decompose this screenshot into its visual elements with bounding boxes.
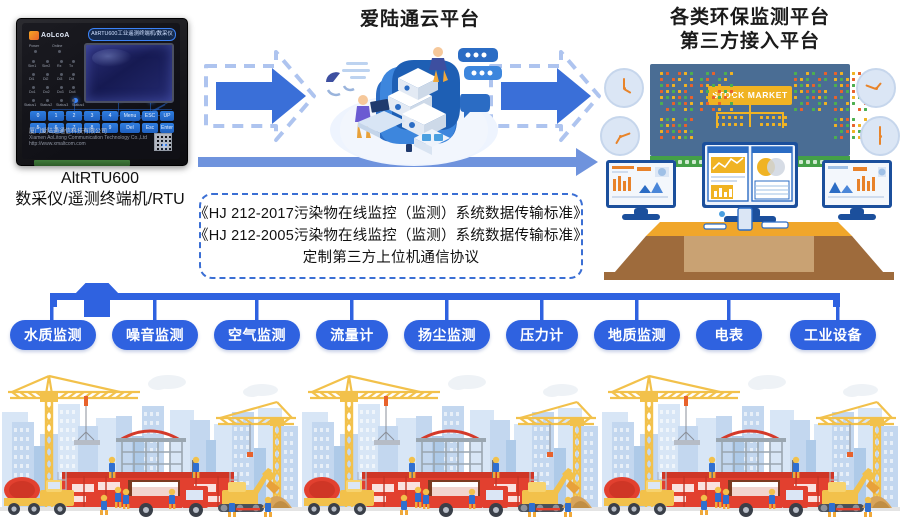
brand-mark-icon (29, 31, 39, 40)
board-dot (690, 108, 693, 111)
board-dot (730, 84, 733, 87)
control-desk (598, 206, 900, 282)
board-dot (812, 108, 815, 111)
board-dot (660, 96, 663, 99)
board-footer-dot (692, 160, 696, 164)
board-dot (846, 78, 849, 81)
board-dot (772, 123, 775, 126)
board-dot (794, 90, 797, 93)
board-dot (666, 118, 669, 121)
board-dot (730, 96, 733, 99)
board-dot (684, 90, 687, 93)
device-type-name: 数采仪/遥测终端机/RTU (0, 189, 200, 210)
board-dot (730, 72, 733, 75)
device-status-label-1: Status1 (24, 103, 36, 107)
board-dot (846, 102, 849, 105)
board-dot (700, 108, 703, 111)
board-dot (684, 136, 687, 139)
board-dot (728, 123, 731, 126)
device-caption: AltRTU600 数采仪/遥测终端机/RTU (0, 168, 200, 210)
board-dot (684, 72, 687, 75)
board-dot (806, 78, 809, 81)
board-dot (818, 84, 821, 87)
board-footer-dot (813, 160, 817, 164)
device-status-label-3: Status3 (56, 103, 68, 107)
sensor-tag-2[interactable]: 空气监测 (214, 320, 300, 350)
monitoring-platform-illustration: STOCK MARKET (598, 56, 900, 286)
board-dot (864, 108, 867, 111)
board-dot (666, 108, 669, 111)
board-dot (794, 84, 797, 87)
board-dot (806, 90, 809, 93)
device-key-2[interactable]: 2 (66, 111, 82, 121)
board-dot (858, 124, 861, 127)
board-dot (740, 116, 743, 119)
sensor-tag-3[interactable]: 流量计 (316, 320, 388, 350)
board-dot (730, 102, 733, 105)
board-dot (834, 72, 837, 75)
board-dot (660, 136, 663, 139)
sensor-tag-8[interactable]: 工业设备 (790, 320, 876, 350)
device-company-text: 厦门爱陆通通信科技有限公司 Xiamen AoLitong Communicat… (29, 129, 147, 147)
device-front-panel: AoLcoA AltRTU600工业遥测终端机/数采仪 Power Online… (22, 23, 180, 159)
right-monitor-screen (825, 163, 889, 205)
board-dot (718, 108, 721, 111)
board-dot (718, 102, 721, 105)
board-dot (660, 84, 663, 87)
board-dot (666, 96, 669, 99)
board-dot (824, 78, 827, 81)
board-dot (660, 118, 663, 121)
device-key-esc-top[interactable]: ESC (142, 111, 158, 121)
board-dot (678, 102, 681, 105)
board-dot (678, 72, 681, 75)
board-dot (834, 96, 837, 99)
flow-arrow-device-to-cloud (202, 46, 320, 146)
board-dot (852, 96, 855, 99)
board-dot (722, 116, 725, 119)
board-dot (672, 96, 675, 99)
board-dot (706, 90, 709, 93)
device-qr-code-icon (154, 133, 172, 151)
board-dot (840, 96, 843, 99)
board-dot (834, 84, 837, 87)
board-dot (784, 116, 787, 119)
board-dot (660, 124, 663, 127)
device-led-power-icon (34, 50, 37, 53)
board-dot (740, 123, 743, 126)
wall-clock-1 (604, 68, 644, 108)
right-platform-title-line2: 第三方接入平台 (640, 30, 860, 54)
board-dot (690, 102, 693, 105)
board-dot (812, 72, 815, 75)
board-dot (760, 116, 763, 119)
board-footer-dot (678, 160, 682, 164)
board-dot (772, 116, 775, 119)
board-dot (718, 84, 721, 87)
board-dot (684, 102, 687, 105)
board-dot (840, 124, 843, 127)
board-dot (818, 78, 821, 81)
board-dot (806, 96, 809, 99)
device-led-online-icon (58, 50, 61, 53)
board-dot (846, 130, 849, 133)
board-dot (834, 124, 837, 127)
device-key-4[interactable]: 4 (102, 111, 118, 121)
board-dot (846, 90, 849, 93)
device-led-label-online: Online (52, 44, 62, 48)
board-dot (800, 90, 803, 93)
device-terminal-block (34, 160, 130, 166)
board-dot (734, 123, 737, 126)
board-connector (749, 105, 751, 127)
board-dot (672, 108, 675, 111)
board-dot (834, 102, 837, 105)
board-footer-dot (685, 160, 689, 164)
board-dot (794, 78, 797, 81)
board-dot (672, 136, 675, 139)
board-dot (672, 102, 675, 105)
board-dot (690, 130, 693, 133)
board-dot (824, 72, 827, 75)
board-dot (834, 78, 837, 81)
construction-tile-svg (0, 368, 300, 525)
board-dot (858, 108, 861, 111)
board-dot (852, 78, 855, 81)
board-dot (818, 108, 821, 111)
board-dot (724, 96, 727, 99)
right-platform-title: 各类环保监测平台 第三方接入平台 (640, 6, 860, 54)
board-dot (672, 130, 675, 133)
board-dot (852, 124, 855, 127)
cloud-platform-title: 爱陆通云平台 (330, 8, 510, 32)
board-dot (666, 130, 669, 133)
board-dot (678, 78, 681, 81)
board-dot (840, 118, 843, 121)
board-dot (724, 72, 727, 75)
board-connector (716, 112, 784, 114)
sensor-tag-6[interactable]: 地质监测 (594, 320, 680, 350)
device-body: AoLcoA AltRTU600工业遥测终端机/数采仪 Power Online… (16, 18, 188, 166)
construction-scene-tile (300, 368, 600, 525)
board-dot (730, 108, 733, 111)
device-key-menu[interactable]: Menu (120, 111, 140, 121)
board-dot (840, 130, 843, 133)
board-dot (678, 136, 681, 139)
board-dot (846, 84, 849, 87)
device-key-1[interactable]: 1 (48, 111, 64, 121)
device-key-up[interactable]: UP (160, 111, 174, 121)
cloud-platform-illustration (318, 38, 508, 173)
board-dot (840, 84, 843, 87)
sensor-tag-row: 水质监测噪音监测空气监测流量计扬尘监测压力计地质监测电表工业设备 (0, 320, 900, 354)
board-dot (700, 102, 703, 105)
board-dot (678, 124, 681, 127)
board-dot (684, 124, 687, 127)
device-model-name: AltRTU600 (0, 168, 200, 189)
device-key-0[interactable]: 0 (30, 111, 46, 121)
board-dot (666, 124, 669, 127)
board-dot (690, 84, 693, 87)
board-dot (766, 123, 769, 126)
device-key-enter[interactable]: Enter (160, 123, 174, 133)
board-dot (700, 84, 703, 87)
board-dot (794, 72, 797, 75)
board-dot (718, 96, 721, 99)
board-dot (678, 90, 681, 93)
sensor-tag-1[interactable]: 噪音监测 (112, 320, 198, 350)
board-dot (852, 130, 855, 133)
board-dot (706, 84, 709, 87)
board-dot (834, 108, 837, 111)
board-dot (818, 96, 821, 99)
board-dot (812, 84, 815, 87)
spec-line-1: 《HJ 212-2017污染物在线监控（监测）系统数据传输标准》 (194, 203, 588, 225)
board-dot (706, 96, 709, 99)
right-platform-title-line1: 各类环保监测平台 (640, 6, 860, 30)
board-dot (730, 90, 733, 93)
protocol-spec-box: 《HJ 212-2017污染物在线监控（监测）系统数据传输标准》 《HJ 212… (199, 193, 583, 279)
board-dot (712, 84, 715, 87)
device-led-label-power: Power (29, 44, 39, 48)
board-dot (712, 96, 715, 99)
board-dot (660, 130, 663, 133)
left-monitor (606, 160, 676, 208)
board-dot (660, 90, 663, 93)
right-monitor (822, 160, 892, 208)
board-dot (846, 118, 849, 121)
board-dot (712, 90, 715, 93)
board-dot (690, 72, 693, 75)
board-dot (824, 102, 827, 105)
board-dot (840, 72, 843, 75)
board-dot (794, 108, 797, 111)
board-dot (840, 108, 843, 111)
board-dot (684, 96, 687, 99)
device-key-3[interactable]: 3 (84, 111, 100, 121)
board-connector (716, 112, 718, 128)
board-dot (852, 136, 855, 139)
board-dot (840, 136, 843, 139)
infographic-canvas: 爱陆通云平台 各类环保监测平台 第三方接入平台 (0, 0, 900, 525)
board-dot (672, 84, 675, 87)
board-dot (690, 96, 693, 99)
board-dot (800, 78, 803, 81)
board-dot (760, 123, 763, 126)
board-dot (706, 78, 709, 81)
spec-line-3: 定制第三方上位机通信协议 (303, 247, 479, 269)
board-dot (700, 90, 703, 93)
board-dot (672, 124, 675, 127)
board-dot (734, 116, 737, 119)
board-dot (766, 116, 769, 119)
board-dot (700, 78, 703, 81)
board-dot (778, 123, 781, 126)
board-dot (824, 96, 827, 99)
board-dot (806, 84, 809, 87)
board-dot (690, 78, 693, 81)
wall-clock-3 (856, 68, 896, 108)
board-dot (660, 72, 663, 75)
device-logo-text: AoLcoA (41, 32, 70, 39)
construction-site-illustration (0, 368, 900, 525)
board-dot (818, 102, 821, 105)
board-dot (852, 90, 855, 93)
device-lcd-screen (84, 43, 174, 103)
board-dot (846, 108, 849, 111)
board-dot (712, 108, 715, 111)
device-model-badge: AltRTU600工业遥测终端机/数采仪 (88, 28, 176, 41)
board-dot (818, 90, 821, 93)
center-monitor (702, 142, 798, 208)
board-dot (684, 118, 687, 121)
sensor-tag-5[interactable]: 压力计 (506, 320, 578, 350)
board-dot (852, 102, 855, 105)
board-dot (800, 108, 803, 111)
board-dot (706, 72, 709, 75)
board-dot (840, 78, 843, 81)
board-dot (728, 116, 731, 119)
board-dot (684, 130, 687, 133)
board-dot (724, 90, 727, 93)
board-footer-dot (806, 160, 810, 164)
board-dot (806, 72, 809, 75)
construction-tile-svg (600, 368, 900, 525)
construction-tile-svg (300, 368, 600, 525)
board-dot (712, 72, 715, 75)
construction-scene-tile (0, 368, 300, 525)
board-footer-dot (799, 160, 803, 164)
board-dot (718, 78, 721, 81)
board-dot (666, 90, 669, 93)
board-dot (852, 72, 855, 75)
board-dot (824, 90, 827, 93)
board-dot (852, 118, 855, 121)
board-dot (672, 118, 675, 121)
board-dot (706, 102, 709, 105)
board-dot (812, 90, 815, 93)
board-dot (678, 130, 681, 133)
board-dot (852, 84, 855, 87)
sensor-tag-0[interactable]: 水质监测 (10, 320, 96, 350)
center-monitor-screen (705, 145, 795, 205)
board-dot (724, 78, 727, 81)
board-dot (666, 72, 669, 75)
board-dot (834, 118, 837, 121)
board-dot (672, 78, 675, 81)
rtu-device-image: AoLcoA AltRTU600工业遥测终端机/数采仪 Power Online… (16, 18, 186, 168)
board-connector (782, 112, 784, 128)
spec-line-2: 《HJ 212-2005污染物在线监控（监测）系统数据传输标准》 (194, 225, 588, 247)
board-dot (812, 96, 815, 99)
device-status-label-4: Status4 (72, 103, 84, 107)
board-dot (840, 90, 843, 93)
device-brand-logo: AoLcoA (29, 29, 81, 41)
board-dot (784, 123, 787, 126)
board-dot (800, 102, 803, 105)
board-dot (722, 123, 725, 126)
board-dot (684, 84, 687, 87)
board-dot (800, 84, 803, 87)
board-dot (684, 108, 687, 111)
board-dot (794, 96, 797, 99)
board-dot (690, 136, 693, 139)
board-dot (834, 136, 837, 139)
wall-clock-4 (860, 116, 900, 156)
board-dot (690, 118, 693, 121)
construction-scene-tile (600, 368, 900, 525)
board-dot (666, 84, 669, 87)
board-dot (660, 102, 663, 105)
board-dot (678, 96, 681, 99)
left-monitor-screen (609, 163, 673, 205)
board-dot (672, 90, 675, 93)
device-status-label-2: Status2 (40, 103, 52, 107)
board-dot (806, 102, 809, 105)
wall-clock-2 (600, 116, 640, 156)
board-dot (846, 124, 849, 127)
board-dot (660, 78, 663, 81)
board-dot (778, 116, 781, 119)
board-dot (724, 102, 727, 105)
sensor-tag-7[interactable]: 电表 (696, 320, 762, 350)
board-dot (718, 90, 721, 93)
sensor-tag-4[interactable]: 扬尘监测 (404, 320, 490, 350)
